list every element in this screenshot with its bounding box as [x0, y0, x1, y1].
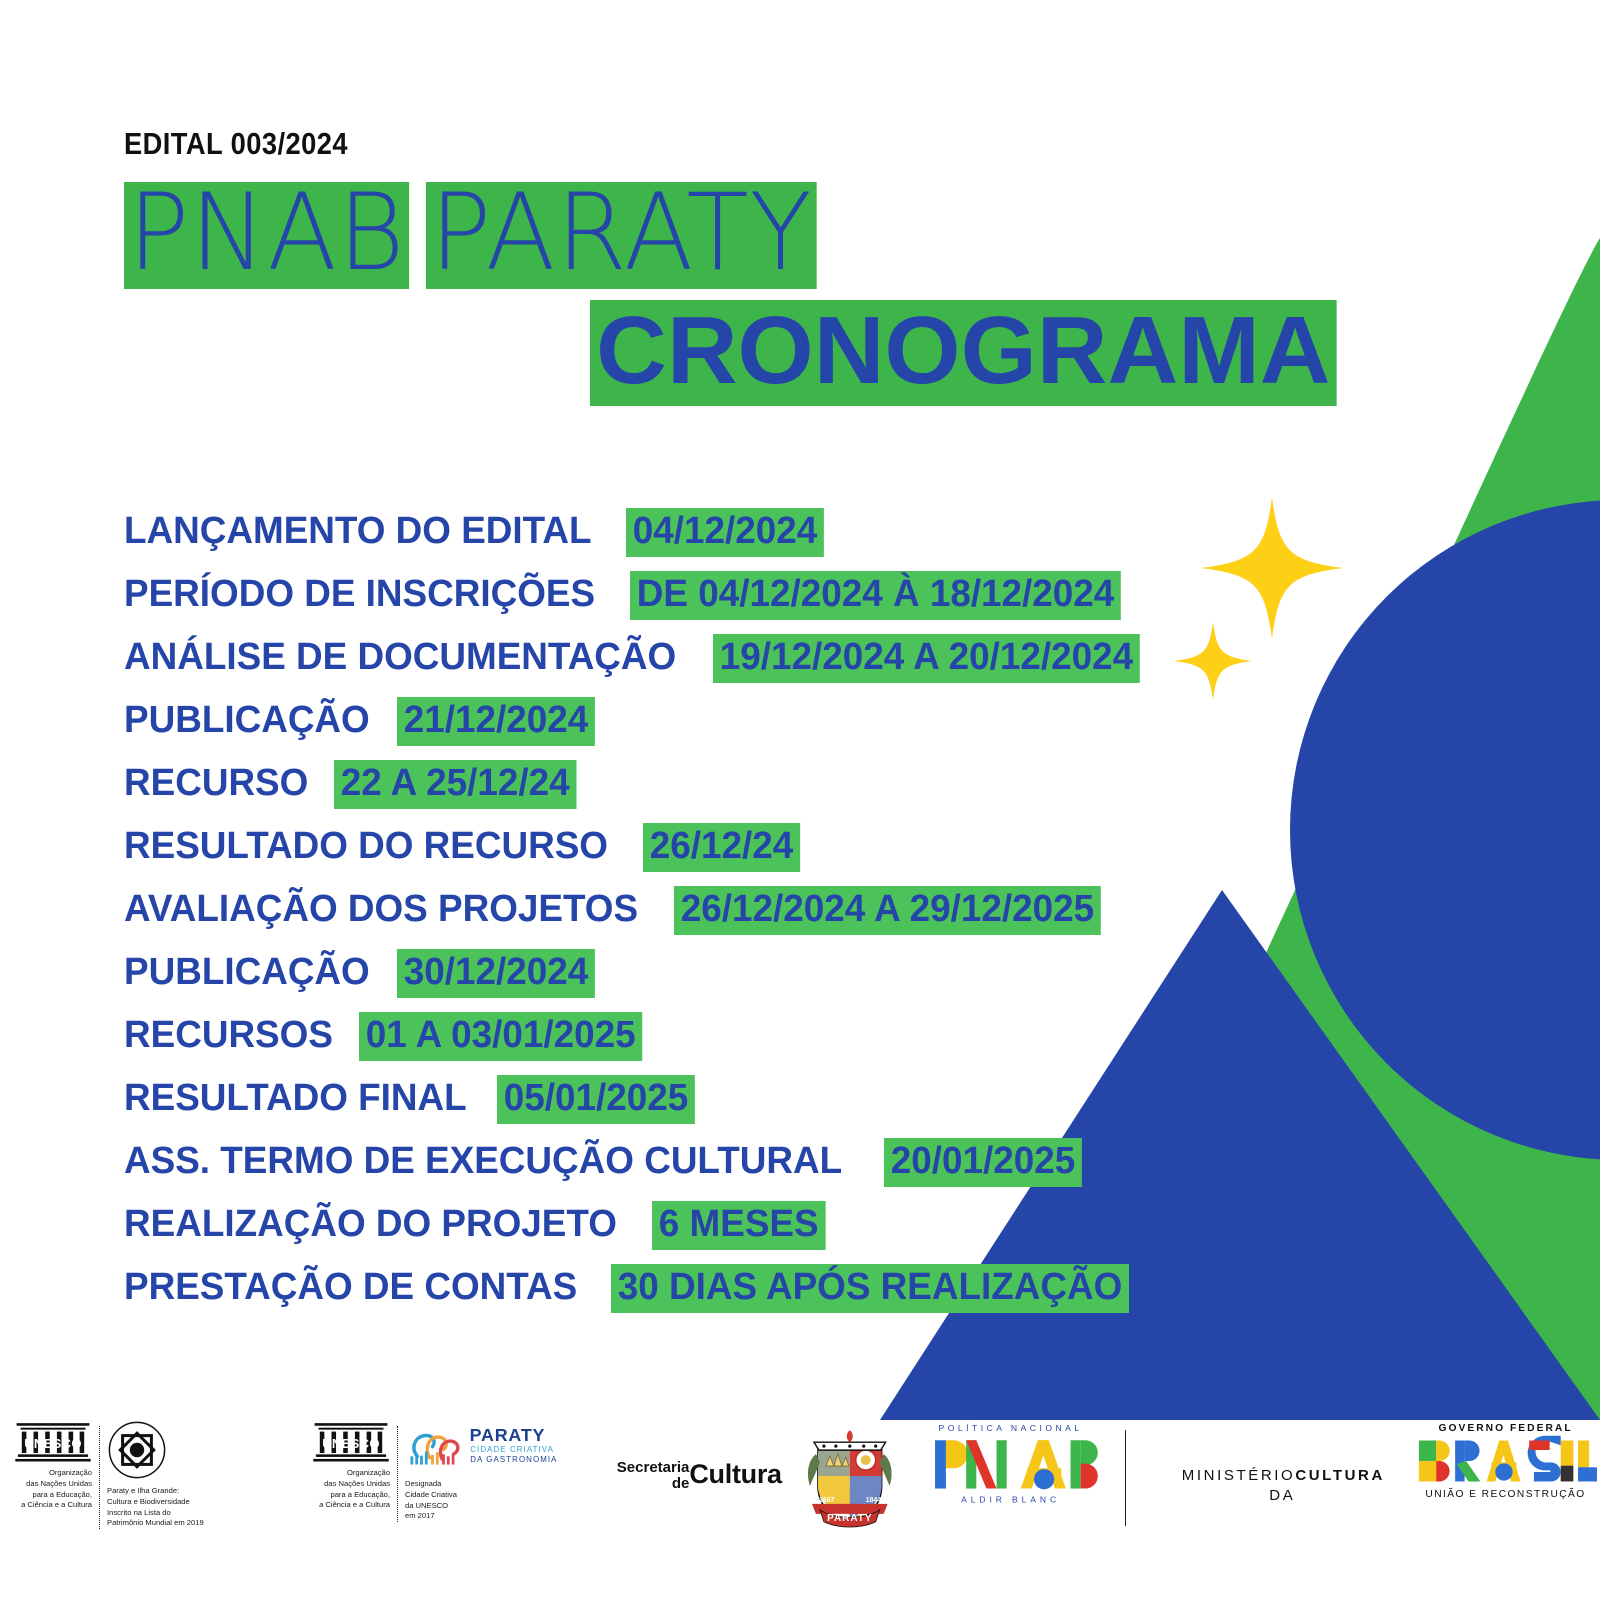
world-heritage-emblem-icon — [107, 1420, 167, 1480]
schedule-row-value: 05/01/2025 — [497, 1075, 695, 1124]
footer-logos: UNESCO Organizaçãodas Nações Unidaspara … — [0, 1420, 1600, 1600]
secretaria-line-1: Secretaria de — [596, 1460, 689, 1492]
unesco-caption-rest: Inscrito na Lista doPatrimônio Mundial e… — [107, 1508, 272, 1530]
svg-text:CIDADE CRIATIVA: CIDADE CRIATIVA — [470, 1445, 554, 1454]
svg-text:PARATY: PARATY — [827, 1513, 872, 1524]
schedule-row-value: 26/12/24 — [643, 823, 800, 872]
schedule-row-value: 6 MESES — [652, 1201, 825, 1250]
schedule-list: LANÇAMENTO DO EDITAL04/12/2024PERÍODO DE… — [124, 508, 1153, 1327]
schedule-row-label: RESULTADO DO RECURSO — [124, 825, 608, 868]
schedule-row-label: LANÇAMENTO DO EDITAL — [124, 510, 592, 553]
schedule-row: LANÇAMENTO DO EDITAL04/12/2024 — [124, 508, 1153, 571]
svg-text:GOVERNO FEDERAL: GOVERNO FEDERAL — [1438, 1423, 1572, 1434]
schedule-row-label: RECURSO — [124, 762, 308, 805]
schedule-row: REALIZAÇÃO DO PROJETO6 MESES — [124, 1201, 1153, 1264]
page-title: CRONOGRAMA — [590, 300, 1337, 406]
secretaria-line-2: Cultura — [689, 1460, 781, 1489]
schedule-row: RESULTADO FINAL05/01/2025 — [124, 1075, 1153, 1138]
schedule-row-label: RECURSOS — [124, 1014, 333, 1057]
document-header: EDITAL 003/2024 PNAB PARATY — [124, 126, 832, 289]
schedule-row: RECURSOS01 A 03/01/2025 — [124, 1012, 1153, 1075]
logo-governo-federal-brasil: GOVERNO FEDERAL UNIÃO E RECONSTRUÇÃO — [1411, 1420, 1600, 1505]
unesco-org-lines: Organizaçãodas Nações Unidaspara a Educa… — [0, 1468, 92, 1511]
schedule-row-label: PUBLICAÇÃO — [124, 699, 370, 742]
footer-vertical-divider — [1125, 1430, 1127, 1526]
schedule-row-value: 26/12/2024 A 29/12/2025 — [674, 886, 1101, 935]
svg-text:UNESCO: UNESCO — [322, 1436, 380, 1451]
schedule-row-value: 04/12/2024 — [626, 508, 824, 557]
ministerio-line-2: CULTURA — [1295, 1466, 1385, 1486]
unesco-temple-icon: UNESCO — [312, 1420, 390, 1464]
creative-city-right-col: PARATY CIDADE CRIATIVA DA GASTRONOMIA De… — [405, 1420, 570, 1522]
edital-number: EDITAL 003/2024 — [124, 126, 747, 162]
svg-text:DA GASTRONOMIA: DA GASTRONOMIA — [470, 1455, 557, 1464]
schedule-row-value: DE 04/12/2024 À 18/12/2024 — [630, 571, 1121, 620]
schedule-row-value: 22 A 25/12/24 — [334, 760, 576, 809]
schedule-row-label: PRESTAÇÃO DE CONTAS — [124, 1266, 577, 1309]
schedule-row-label: ANÁLISE DE DOCUMENTAÇÃO — [124, 636, 676, 679]
paraty-gastronomy-icon: PARATY CIDADE CRIATIVA DA GASTRONOMIA — [405, 1420, 563, 1472]
brand-line-paraty: PARATY — [426, 182, 817, 289]
dotted-divider — [99, 1426, 100, 1529]
schedule-row: PRESTAÇÃO DE CONTAS30 DIAS APÓS REALIZAÇ… — [124, 1264, 1153, 1327]
unesco-left-col: UNESCO Organizaçãodas Nações Unidaspara … — [0, 1420, 92, 1511]
schedule-row-value: 20/01/2025 — [884, 1138, 1082, 1187]
brand-line-pnab: PNAB — [124, 182, 409, 289]
svg-text:PARATY: PARATY — [470, 1425, 546, 1445]
schedule-row: PUBLICAÇÃO30/12/2024 — [124, 949, 1153, 1012]
svg-text:ALDIR BLANC: ALDIR BLANC — [961, 1495, 1060, 1505]
svg-text:UNESCO: UNESCO — [24, 1436, 82, 1451]
schedule-row-value: 30/12/2024 — [397, 949, 595, 998]
schedule-row-label: PERÍODO DE INSCRIÇÕES — [124, 573, 595, 616]
logo-unesco-creative-city: UNESCO Organizaçãodas Nações Unidaspara … — [298, 1420, 570, 1522]
schedule-row-value: 21/12/2024 — [397, 697, 595, 746]
schedule-row: AVALIAÇÃO DOS PROJETOS26/12/2024 A 29/12… — [124, 886, 1153, 949]
logo-secretaria-cultura: Secretaria de Cultura — [596, 1420, 782, 1492]
schedule-row-value: 01 A 03/01/2025 — [359, 1012, 642, 1061]
logo-ministerio-cultura: MINISTÉRIO DA CULTURA — [1150, 1420, 1385, 1505]
brand-title: PNAB PARATY — [124, 176, 832, 289]
unesco-org-lines-2: Organizaçãodas Nações Unidaspara a Educa… — [298, 1468, 390, 1511]
unesco-caption-bold: Paraty e Ilha Grande:Cultura e Biodivers… — [107, 1486, 272, 1508]
unesco-temple-icon: UNESCO — [14, 1420, 92, 1464]
schedule-row-value: 19/12/2024 A 20/12/2024 — [713, 634, 1140, 683]
schedule-row: PERÍODO DE INSCRIÇÕESDE 04/12/2024 À 18/… — [124, 571, 1153, 634]
schedule-row-label: REALIZAÇÃO DO PROJETO — [124, 1203, 617, 1246]
svg-text:1844: 1844 — [865, 1497, 881, 1504]
schedule-row: RESULTADO DO RECURSO26/12/24 — [124, 823, 1153, 886]
schedule-row: RECURSO22 A 25/12/24 — [124, 760, 1153, 823]
svg-text:POLÍTICA NACIONAL: POLÍTICA NACIONAL — [939, 1423, 1083, 1433]
creative-city-caption: DesignadaCidade Criativada UNESCOem 2017 — [405, 1479, 570, 1522]
svg-text:1667: 1667 — [819, 1497, 835, 1504]
sparkle-icon — [1201, 497, 1343, 639]
schedule-row-label: ASS. TERMO DE EXECUÇÃO CULTURAL — [124, 1140, 842, 1183]
unesco-left-col-2: UNESCO Organizaçãodas Nações Unidaspara … — [298, 1420, 390, 1511]
schedule-row-value: 30 DIAS APÓS REALIZAÇÃO — [611, 1264, 1129, 1313]
logo-unesco-world-heritage: UNESCO Organizaçãodas Nações Unidaspara … — [0, 1420, 272, 1529]
schedule-row: ASS. TERMO DE EXECUÇÃO CULTURAL20/01/202… — [124, 1138, 1153, 1201]
paraty-coat-of-arms-icon: PARATY 1667 1844 — [804, 1420, 896, 1532]
sparkle-icon — [1174, 622, 1252, 700]
schedule-row: PUBLICAÇÃO21/12/2024 — [124, 697, 1153, 760]
svg-text:UNIÃO E RECONSTRUÇÃO: UNIÃO E RECONSTRUÇÃO — [1425, 1487, 1585, 1500]
unesco-right-col: Paraty e Ilha Grande:Cultura e Biodivers… — [107, 1420, 272, 1529]
ministerio-line-1: MINISTÉRIO DA — [1150, 1466, 1295, 1505]
schedule-row-label: PUBLICAÇÃO — [124, 951, 370, 994]
dotted-divider — [397, 1426, 398, 1522]
logo-pnab-aldir-blanc: POLÍTICA NACIONAL ALDIR BLANC — [921, 1420, 1100, 1507]
schedule-row: ANÁLISE DE DOCUMENTAÇÃO19/12/2024 A 20/1… — [124, 634, 1153, 697]
schedule-row-label: AVALIAÇÃO DOS PROJETOS — [124, 888, 638, 931]
schedule-row-label: RESULTADO FINAL — [124, 1077, 467, 1120]
